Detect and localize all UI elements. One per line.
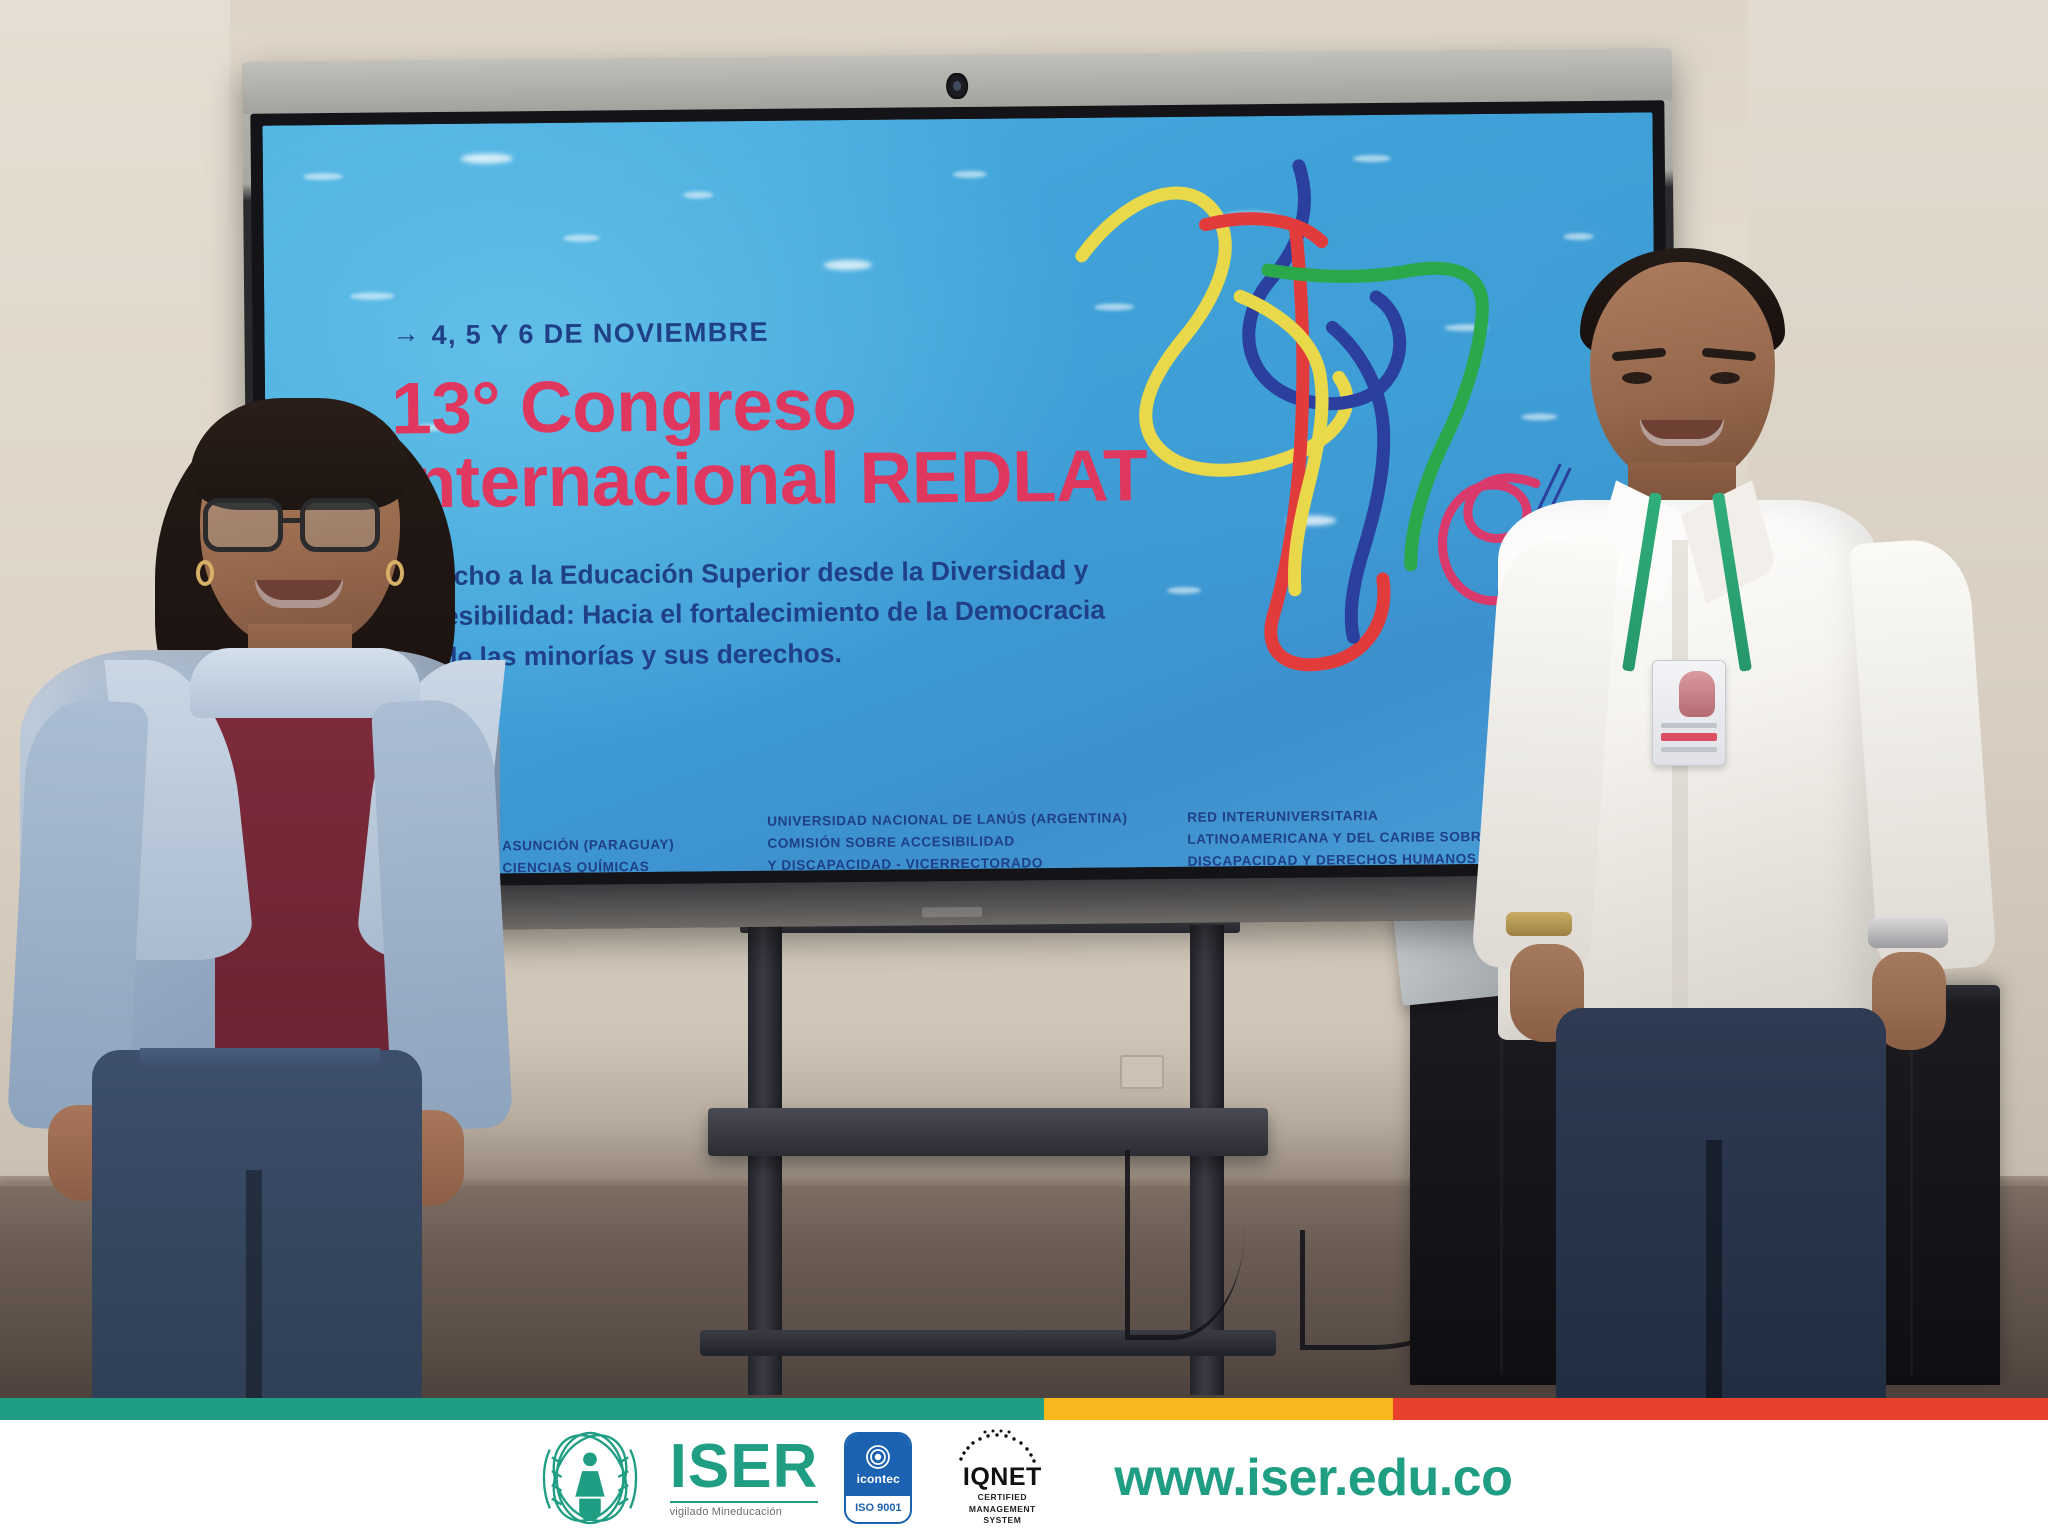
badge-photo: [1679, 671, 1715, 717]
eyeglasses-lens-left: [203, 498, 283, 552]
organizer-column: UNIVERSIDAD NACIONAL DE LANÚS (ARGENTINA…: [767, 807, 1188, 876]
bracelet: [1506, 912, 1572, 936]
arrow-right-icon: →: [392, 320, 419, 347]
iqnet-line-3: SYSTEM: [983, 1515, 1021, 1526]
event-photograph: → 4, 5 Y 6 DE NOVIEMBRE 13° Congreso Int…: [0, 0, 2048, 1398]
website-url[interactable]: www.iser.edu.co: [1114, 1448, 1512, 1508]
organizer-line: Y DISCAPACIDAD - VICERRECTORADO: [767, 851, 1187, 876]
iqnet-dotted-arc-icon: [947, 1429, 1057, 1463]
eye-left: [1622, 372, 1652, 384]
iser-wordmark-block: ISER vigilado Mineducación: [670, 1438, 819, 1517]
organizers-list: UNIVERSIDAD NACIONAL DE ASUNCIÓN (PARAGU…: [397, 803, 1608, 876]
footer-bar: ISER vigilado Mineducación icontec: [0, 1420, 2048, 1536]
shirt-placket: [1672, 540, 1688, 1040]
iser-rule: [670, 1501, 819, 1503]
badge-accent-bar: [1661, 733, 1717, 741]
waistband: [140, 1048, 380, 1070]
iser-wordmark: ISER: [670, 1438, 819, 1495]
eye-right: [1710, 372, 1740, 384]
iser-atom-wheat-logo: [536, 1430, 644, 1526]
leg-separation: [1706, 1140, 1722, 1398]
face: [1590, 262, 1775, 482]
brand-color-stripe: [0, 1398, 2048, 1420]
eyeglasses-lens-right: [300, 498, 380, 552]
icontec-target-icon: [865, 1444, 891, 1470]
earring-left: [196, 560, 214, 586]
wall-outlet: [1120, 1055, 1164, 1089]
iqnet-seal: IQNET CERTIFIED MANAGEMENT SYSTEM: [938, 1429, 1066, 1526]
organizer-line: UNIVERSIDAD NACIONAL DE LANÚS (ARGENTINA…: [767, 807, 1187, 833]
slide-date-row: → 4, 5 Y 6 DE NOVIEMBRE: [392, 317, 769, 352]
icontec-seal: icontec ISO 9001: [844, 1432, 912, 1524]
stand-shelf: [708, 1108, 1268, 1156]
iser-subtext: vigilado Mineducación: [670, 1506, 782, 1518]
screenshot-root: → 4, 5 Y 6 DE NOVIEMBRE 13° Congreso Int…: [0, 0, 2048, 1536]
icontec-seal-icon: icontec: [846, 1434, 910, 1496]
id-badge: [1652, 660, 1726, 766]
iqnet-line-1: CERTIFIED: [978, 1492, 1027, 1503]
stand-column-left: [748, 925, 782, 1395]
webcam-icon: [946, 73, 968, 99]
stripe-red: [1393, 1398, 2048, 1420]
slide-title-line-1: 13° Congreso: [391, 364, 857, 449]
icontec-standard: ISO 9001: [855, 1502, 901, 1514]
iqnet-wordmark: IQNET: [963, 1463, 1042, 1492]
stripe-teal: [0, 1398, 1044, 1420]
slide-date-text: 4, 5 Y 6 DE NOVIEMBRE: [431, 317, 769, 351]
display-brand-mark: [922, 907, 982, 918]
iqnet-line-2: MANAGEMENT: [969, 1504, 1036, 1515]
eyeglasses-bridge: [283, 518, 300, 523]
mouth: [1640, 420, 1724, 446]
icontec-name: icontec: [857, 1472, 900, 1486]
earring-right: [386, 560, 404, 586]
leg-separation: [246, 1170, 262, 1398]
wristwatch: [1868, 918, 1948, 948]
stripe-amber: [1044, 1398, 1392, 1420]
